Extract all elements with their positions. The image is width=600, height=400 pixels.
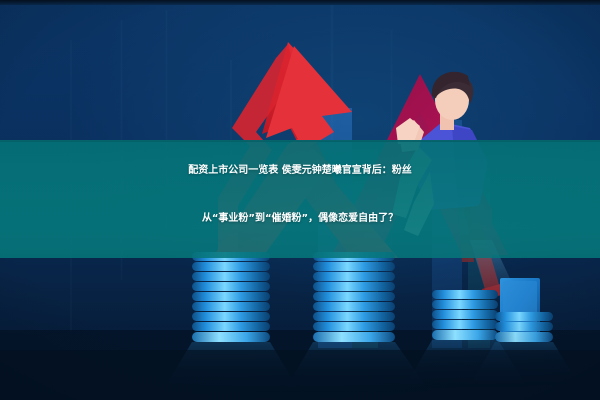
image-canvas: 配资上市公司一览表 侯雯元钟楚曦官宣背后：粉丝 从“事业粉”到“催婚粉”，偶像恋…	[0, 0, 600, 400]
headline: 配资上市公司一览表 侯雯元钟楚曦官宣背后：粉丝 从“事业粉”到“催婚粉”，偶像恋…	[0, 147, 600, 243]
headline-line-2: 从“事业粉”到“催婚粉”，偶像恋爱自由了？	[0, 195, 600, 243]
headline-line-1: 配资上市公司一览表 侯雯元钟楚曦官宣背后：粉丝	[0, 147, 600, 195]
title-band-top-edge	[0, 140, 600, 142]
